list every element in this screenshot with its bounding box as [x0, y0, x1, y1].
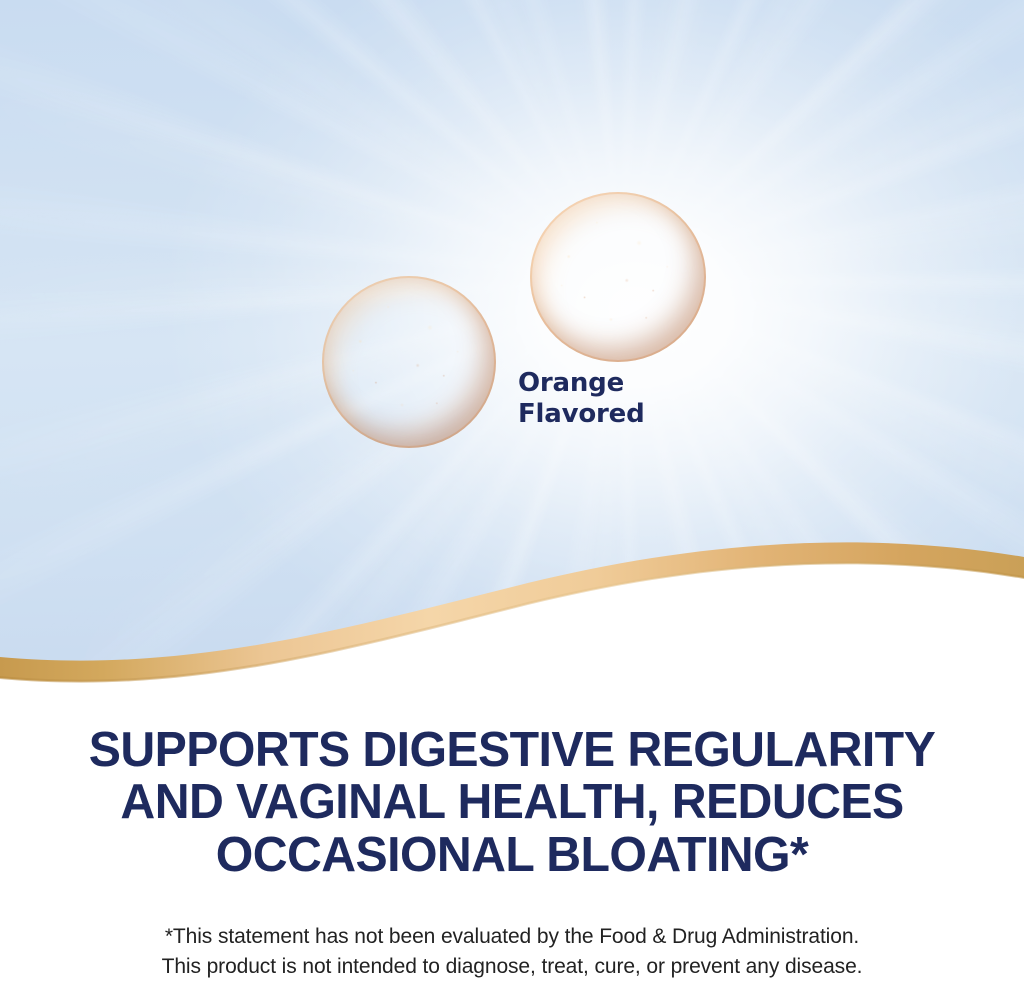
lower-copy-panel: SUPPORTS DIGESTIVE REGULARITY AND VAGINA… [0, 700, 1024, 991]
product-marketing-image: Orange Flavored [0, 0, 1024, 991]
center-glow [0, 0, 1024, 700]
flavor-caption: Orange Flavored [518, 368, 818, 430]
fda-disclaimer: *This statement has not been evaluated b… [0, 922, 1024, 982]
headline: SUPPORTS DIGESTIVE REGULARITY AND VAGINA… [8, 724, 1017, 881]
hero-panel: Orange Flavored [0, 0, 1024, 700]
gummy-right [530, 192, 706, 362]
gummy-left [322, 276, 496, 448]
